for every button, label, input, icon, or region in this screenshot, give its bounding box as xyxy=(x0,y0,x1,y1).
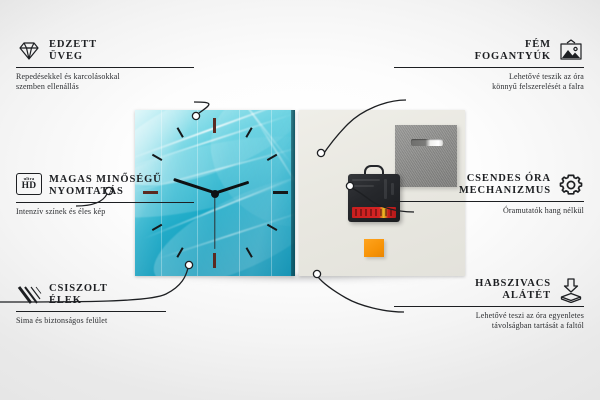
feature-title: CSISZOLTÉLEK xyxy=(49,283,108,308)
feature-subtitle: Sima és biztonságos felület xyxy=(16,316,216,326)
feature-title: FÉMFOGANTYÚK xyxy=(475,39,551,64)
feature-foam-pad: HABSZIVACSALÁTÉT Lehetővé teszi az óra e… xyxy=(384,277,584,331)
feature-subtitle: Repedésekkel és karcolásokkalszemben ell… xyxy=(16,72,216,92)
feature-header: CSISZOLTÉLEK xyxy=(16,282,216,308)
feature-divider xyxy=(394,67,584,68)
polished-edge-icon xyxy=(16,282,42,308)
feature-title: CSENDES ÓRAMECHANIZMUS xyxy=(459,173,551,198)
clock-tick xyxy=(273,191,288,194)
diamond-icon xyxy=(16,38,42,64)
feature-polished-edges: CSISZOLTÉLEK Sima és biztonságos felület xyxy=(16,282,216,326)
foam-spacer-pad xyxy=(364,239,384,257)
feature-header: CSENDES ÓRAMECHANIZMUS xyxy=(384,172,584,198)
feature-quiet-mechanism: CSENDES ÓRAMECHANIZMUS Óramutatók hang n… xyxy=(384,172,584,216)
feature-title: MAGAS MINŐSÉGŰNYOMTATÁS xyxy=(49,174,162,199)
feature-divider xyxy=(394,306,584,307)
feature-divider xyxy=(16,67,194,68)
ultra-hd-icon-main-text: HD xyxy=(22,182,37,192)
feature-divider xyxy=(16,311,166,312)
feature-tempered-glass: EDZETTÜVEG Repedésekkel és karcolásokkal… xyxy=(16,38,216,92)
feature-subtitle: Óramutatók hang nélkül xyxy=(384,206,584,216)
feature-divider xyxy=(394,201,584,202)
feature-title: HABSZIVACSALÁTÉT xyxy=(475,278,551,303)
infographic-canvas: EDZETTÜVEG Repedésekkel és karcolásokkal… xyxy=(0,0,600,400)
feature-header: EDZETTÜVEG xyxy=(16,38,216,64)
hanger-slot xyxy=(411,139,443,146)
feature-title: EDZETTÜVEG xyxy=(49,39,97,64)
ultra-hd-icon: ultra HD xyxy=(16,173,42,199)
picture-hanger-icon xyxy=(558,38,584,64)
gear-icon xyxy=(558,172,584,198)
feature-header: ultra HD MAGAS MINŐSÉGŰNYOMTATÁS xyxy=(16,173,216,199)
feature-subtitle: Lehetővé teszi az óra egyenletestávolság… xyxy=(384,311,584,331)
foam-pad-arrow-icon xyxy=(558,277,584,303)
feature-hd-print: ultra HD MAGAS MINŐSÉGŰNYOMTATÁS Intenzí… xyxy=(16,173,216,217)
feature-header: HABSZIVACSALÁTÉT xyxy=(384,277,584,303)
feature-header: FÉMFOGANTYÚK xyxy=(384,38,584,64)
clock-tick xyxy=(213,253,216,268)
clock-glass-edge xyxy=(291,110,295,276)
clock-tick xyxy=(213,118,216,133)
feature-subtitle: Intenzív színek és éles kép xyxy=(16,207,216,217)
feature-subtitle: Lehetővé teszik az órakönnyű felszerelés… xyxy=(384,72,584,92)
feature-metal-handles: FÉMFOGANTYÚK Lehetővé teszik az órakönny… xyxy=(384,38,584,92)
feature-divider xyxy=(16,202,194,203)
